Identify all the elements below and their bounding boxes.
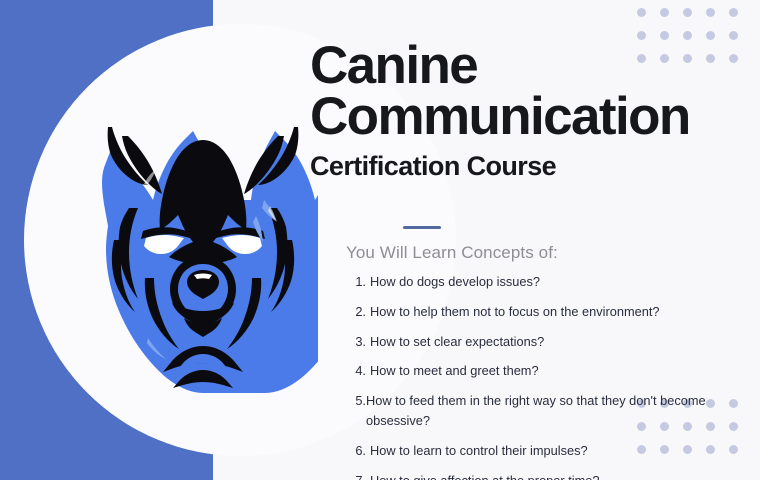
content-column: Canine Communication Certification Cours…	[310, 0, 760, 480]
list-item-number: 1.	[346, 272, 370, 292]
accent-divider	[403, 226, 441, 229]
list-item-text: How to give affection at the proper time…	[370, 471, 746, 480]
list-item-number: 6.	[346, 441, 370, 461]
page-title-line-2: Communication	[310, 91, 750, 142]
list-item: 6. How to learn to control their impulse…	[346, 441, 746, 461]
page-subtitle: Certification Course	[310, 151, 750, 182]
list-item: 3. How to set clear expectations?	[346, 332, 746, 352]
list-item-text: How to learn to control their impulses?	[370, 441, 746, 461]
list-item-text: How to help them not to focus on the env…	[370, 302, 746, 322]
wolf-head-mascot-icon	[88, 88, 318, 393]
title-block: Canine Communication Certification Cours…	[310, 40, 750, 182]
list-item: 5. How to feed them in the right way so …	[346, 391, 746, 431]
list-item-number: 2.	[346, 302, 370, 322]
list-item-number: 4.	[346, 361, 370, 381]
list-item: 4. How to meet and greet them?	[346, 361, 746, 381]
list-item: 2. How to help them not to focus on the …	[346, 302, 746, 322]
list-item-text: How do dogs develop issues?	[370, 272, 746, 292]
list-item: 1. How do dogs develop issues?	[346, 272, 746, 292]
concept-list: 1. How do dogs develop issues? 2. How to…	[346, 272, 746, 480]
page-title-line-1: Canine	[310, 40, 750, 91]
learn-heading: You Will Learn Concepts of:	[346, 243, 558, 263]
list-item-number: 3.	[346, 332, 370, 352]
list-item-text: How to meet and greet them?	[370, 361, 746, 381]
list-item-number: 5.	[346, 391, 366, 411]
list-item: 7. How to give affection at the proper t…	[346, 471, 746, 480]
list-item-text: How to feed them in the right way so tha…	[366, 391, 746, 431]
list-item-number: 7.	[346, 471, 370, 480]
course-poster: Canine Communication Certification Cours…	[0, 0, 760, 480]
list-item-text: How to set clear expectations?	[370, 332, 746, 352]
